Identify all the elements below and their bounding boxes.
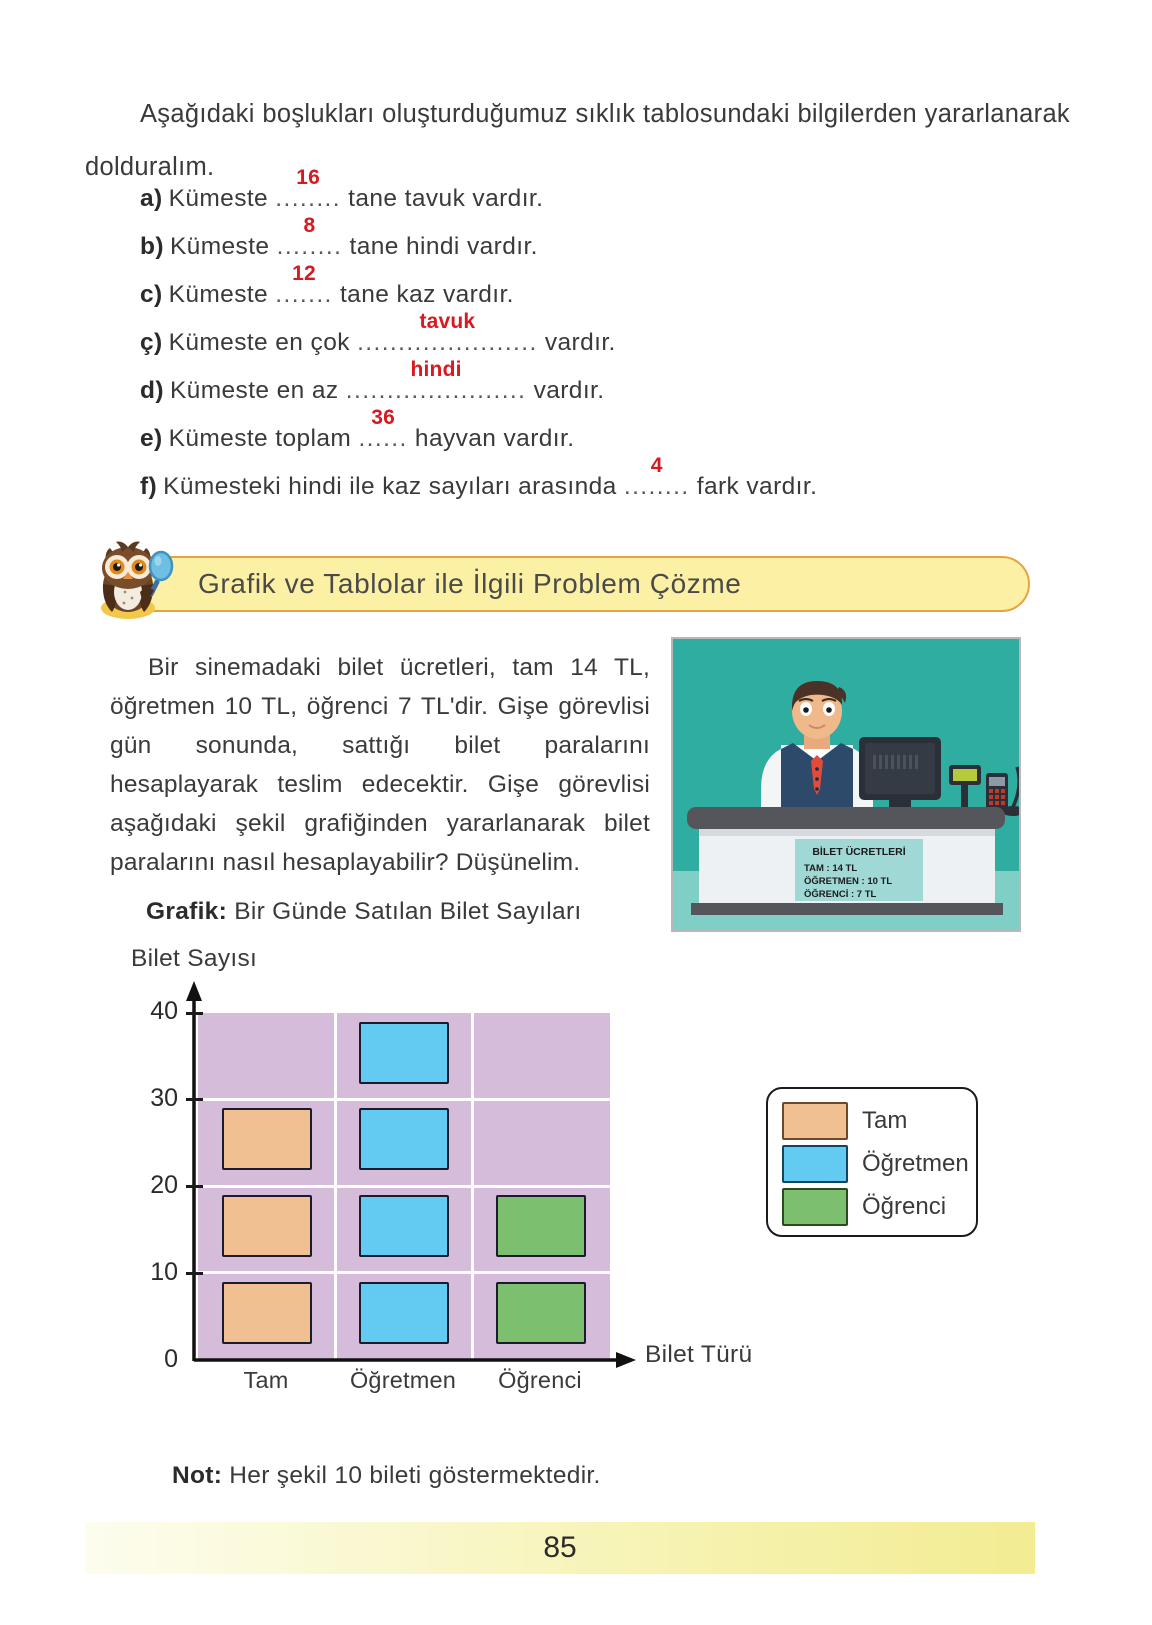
question-label-f: f) — [140, 473, 157, 500]
symbol-ogrenci-2 — [496, 1195, 586, 1257]
answer-blank-b[interactable]: ........8 — [277, 233, 343, 261]
xcat-label-ogrenci: Öğrenci — [472, 1367, 608, 1394]
question-text-after-f: fark vardır. — [697, 473, 818, 500]
answer-value-e: 36 — [371, 406, 395, 430]
question-text-before-e: Kümeste toplam — [169, 425, 352, 452]
section-banner: Grafik ve Tablolar ile İlgili Problem Çö… — [88, 556, 1030, 612]
ytick-mark-30 — [186, 1098, 203, 1101]
column-separator-2 — [471, 1013, 474, 1360]
cinema-scene-svg: BİLET ÜCRETLERİ TAM : 14 TL ÖĞRETMEN : 1… — [673, 639, 1019, 930]
intro-paragraph: Aşağıdaki boşlukları oluşturduğumuz sıkl… — [85, 88, 1070, 194]
question-text-after-d: vardır. — [534, 377, 605, 404]
question-text-before-c-cedilla: Kümeste en çok — [169, 329, 350, 356]
symbol-ogretmen-4 — [359, 1022, 449, 1084]
ytick-label-40: 40 — [130, 997, 178, 1026]
question-item-c-cedilla: ç)Kümeste en çok ......................t… — [140, 329, 1040, 377]
question-text-after-a: tane tavuk vardır. — [348, 185, 543, 212]
ytick-mark-20 — [186, 1185, 203, 1188]
legend-label-ogretmen: Öğretmen — [862, 1150, 969, 1178]
question-item-d: d)Kümeste en az ......................hi… — [140, 377, 1040, 425]
answer-blank-a[interactable]: ........16 — [275, 185, 341, 213]
cinema-box-office-illustration: BİLET ÜCRETLERİ TAM : 14 TL ÖĞRETMEN : 1… — [671, 637, 1021, 932]
question-text-after-c-cedilla: vardır. — [545, 329, 616, 356]
svg-text:ÖĞRENCİ : 7 TL: ÖĞRENCİ : 7 TL — [804, 888, 877, 900]
ytick-label-20: 20 — [130, 1171, 178, 1200]
page-footer: 85 — [85, 1522, 1035, 1574]
answer-blank-c[interactable]: .......12 — [275, 281, 332, 309]
question-label-c: c) — [140, 281, 163, 308]
svg-text:BİLET ÜCRETLERİ: BİLET ÜCRETLERİ — [812, 845, 905, 858]
ytick-label-10: 10 — [130, 1258, 178, 1287]
question-text-before-a: Kümeste — [169, 185, 268, 212]
symbol-ogretmen-2 — [359, 1195, 449, 1257]
question-label-a: a) — [140, 185, 163, 212]
legend-item-tam: Tam — [782, 1102, 907, 1140]
symbol-ogretmen-1 — [359, 1282, 449, 1344]
pictograph-chart: 40 30 20 10 0 Tam Öğretmen Öğrenci — [130, 975, 650, 1375]
y-axis-label: Bilet Sayısı — [131, 945, 257, 973]
intro-text: Aşağıdaki boşlukları oluşturduğumuz sıkl… — [85, 100, 1070, 181]
question-label-b: b) — [140, 233, 164, 260]
question-text-after-e: hayvan vardır. — [415, 425, 575, 452]
gridline-10 — [198, 1271, 610, 1274]
answer-value-c: 12 — [292, 262, 316, 286]
problem-paragraph: Bir sinemadaki bilet ücretleri, tam 14 T… — [110, 648, 650, 882]
question-item-a: a)Kümeste ........16 tane tavuk vardır. — [140, 185, 1040, 233]
answer-value-f: 4 — [651, 454, 663, 478]
answer-blank-c-cedilla[interactable]: ......................tavuk — [357, 329, 538, 357]
question-text-after-b: tane hindi vardır. — [350, 233, 538, 260]
ytick-label-0: 0 — [130, 1345, 178, 1374]
legend-label-ogrenci: Öğrenci — [862, 1193, 946, 1221]
page-number: 85 — [85, 1531, 1035, 1565]
symbol-tam-3 — [222, 1108, 312, 1170]
xcat-label-tam: Tam — [198, 1367, 334, 1394]
answer-value-c-cedilla: tavuk — [419, 310, 475, 334]
ytick-mark-40 — [186, 1012, 203, 1015]
chart-title: Grafik: Bir Günde Satılan Bilet Sayıları — [146, 898, 582, 926]
legend-swatch-ogretmen — [782, 1145, 848, 1183]
legend-swatch-tam — [782, 1102, 848, 1140]
legend-label-tam: Tam — [862, 1107, 907, 1135]
banner-title: Grafik ve Tablolar ile İlgili Problem Çö… — [198, 568, 741, 600]
answer-value-a: 16 — [296, 166, 320, 190]
answer-value-b: 8 — [304, 214, 316, 238]
answer-value-d: hindi — [410, 358, 461, 382]
symbol-ogretmen-3 — [359, 1108, 449, 1170]
x-axis-label: Bilet Türü — [645, 1341, 752, 1369]
answer-blank-e[interactable]: ......36 — [358, 425, 407, 453]
question-item-e: e)Kümeste toplam ......36 hayvan vardır. — [140, 425, 1040, 473]
pos-terminal-icon — [986, 773, 1008, 811]
ytick-label-30: 30 — [130, 1084, 178, 1113]
symbol-tam-2 — [222, 1195, 312, 1257]
chart-title-prefix: Grafik: — [146, 898, 227, 925]
xcat-label-ogretmen: Öğretmen — [335, 1367, 471, 1394]
gridline-20 — [198, 1185, 610, 1188]
svg-text:TAM : 14 TL: TAM : 14 TL — [804, 863, 857, 874]
chart-legend: Tam Öğretmen Öğrenci — [766, 1087, 978, 1237]
fill-in-blank-list: a)Kümeste ........16 tane tavuk vardır. … — [140, 185, 1040, 521]
symbol-tam-1 — [222, 1282, 312, 1344]
symbol-ogrenci-1 — [496, 1282, 586, 1344]
note-text: Her şekil 10 bileti göstermektedir. — [229, 1462, 600, 1489]
legend-item-ogretmen: Öğretmen — [782, 1145, 969, 1183]
gridline-30 — [198, 1098, 610, 1101]
chart-title-text: Bir Günde Satılan Bilet Sayıları — [234, 898, 581, 925]
legend-swatch-ogrenci — [782, 1188, 848, 1226]
question-text-after-c: tane kaz vardır. — [340, 281, 514, 308]
legend-item-ogrenci: Öğrenci — [782, 1188, 946, 1226]
question-text-before-d: Kümeste en az — [170, 377, 339, 404]
question-item-b: b)Kümeste ........8 tane hindi vardır. — [140, 233, 1040, 281]
question-item-c: c)Kümeste .......12 tane kaz vardır. — [140, 281, 1040, 329]
plot-area — [198, 1013, 610, 1360]
question-item-f: f)Kümesteki hindi ile kaz sayıları arası… — [140, 473, 1040, 521]
question-text-before-c: Kümeste — [169, 281, 268, 308]
question-text-before-b: Kümeste — [170, 233, 269, 260]
answer-blank-d[interactable]: ......................hindi — [346, 377, 527, 405]
question-label-c-cedilla: ç) — [140, 329, 163, 356]
question-label-d: d) — [140, 377, 164, 404]
question-label-e: e) — [140, 425, 163, 452]
ticket-prices-sign: BİLET ÜCRETLERİ TAM : 14 TL ÖĞRETMEN : 1… — [795, 839, 923, 901]
answer-blank-f[interactable]: ........4 — [624, 473, 690, 501]
svg-text:ÖĞRETMEN : 10 TL: ÖĞRETMEN : 10 TL — [804, 875, 892, 887]
problem-text: Bir sinemadaki bilet ücretleri, tam 14 T… — [110, 654, 650, 876]
chart-note: Not: Her şekil 10 bileti göstermektedir. — [172, 1462, 601, 1490]
question-text-before-f: Kümesteki hindi ile kaz sayıları arasınd… — [163, 473, 617, 500]
ytick-mark-10 — [186, 1272, 203, 1275]
note-label: Not: — [172, 1462, 222, 1489]
owl-with-magnifier-icon — [88, 534, 184, 620]
column-separator-1 — [334, 1013, 337, 1360]
